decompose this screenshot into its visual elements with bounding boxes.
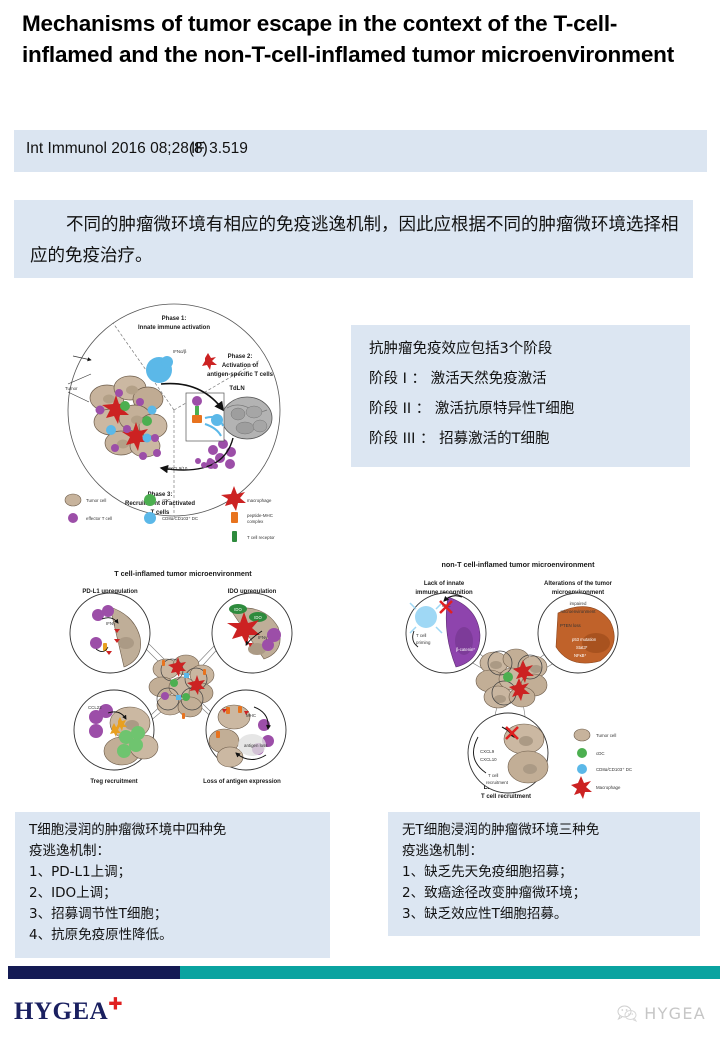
label-ido-1: IDO: [234, 607, 242, 612]
hygea-logo: HYGEA✚: [14, 998, 123, 1026]
page-title: Mechanisms of tumor escape in the contex…: [22, 8, 702, 70]
antigen-presentation-box: [186, 393, 224, 441]
label-ido-2: IDO: [254, 615, 262, 620]
phase2-subtitle-2: antigen-specific T cells: [207, 372, 274, 378]
summary-text: 不同的肿瘤微环境有相应的免疫逃逸机制，因此应根据不同的肿瘤微环境选择相应的免疫治…: [30, 210, 680, 272]
figure-t-cell-inflamed-tme: T cell-inflamed tumor microenvironment P…: [62, 565, 304, 795]
ifn-label: IFNα/β: [173, 349, 187, 354]
legend-label-tumor-cell-2: Tumor cell: [596, 733, 616, 738]
phase-item-1: 阶段 I ： 激活天然免疫激活: [369, 367, 547, 388]
wechat-icon: [617, 1005, 637, 1022]
legend-label-macrophage: macrophage: [247, 498, 272, 503]
bubble-treg: CCL22: [74, 690, 158, 770]
legend-label-cdc: cDC: [162, 498, 171, 503]
footer-accent-bar-teal: [180, 966, 720, 979]
red-cross-icon: ✚: [108, 995, 123, 1015]
conclusion-text-non-inflamed: 无T细胞浸润的肿瘤微环境三种免 疫逃逸机制： 1、缺乏先天免疫细胞招募； 2、致…: [402, 820, 599, 925]
figure-three-phases: Phase 1: Innate immune activation Phase …: [55, 298, 293, 546]
bubble-pdl1: IFNγ: [70, 593, 150, 673]
label-tcell-priming-2: priming: [416, 640, 431, 645]
figure-non-t-cell-inflamed-tme: non-T cell-inflamed tumor microenvironme…: [382, 555, 654, 800]
legend-label-cd8a-dc-2: CD8α/CD103⁺ DC: [596, 767, 632, 772]
label-ifn-gamma-ido: IFNγ: [258, 635, 268, 640]
hygea-logo-text: HYGEA: [14, 998, 108, 1025]
label-impaired-1: impaired: [570, 601, 587, 606]
conclusion-text-inflamed: T细胞浸润的肿瘤微环境中四种免 疫逃逸机制： 1、PD-L1上调； 2、IDO上…: [29, 820, 226, 946]
bubble-alterations-tme: impaired microenvironment PTEN loss p53 …: [538, 593, 618, 673]
label-mhc: MHC: [246, 713, 256, 718]
legend-label-cd8a-dc: CD8α/CD103⁺ DC: [162, 516, 198, 521]
phases-panel: 抗肿瘤免疫效应包括3个阶段 阶段 I ： 激活天然免疫激活 阶段 II ： 激活…: [351, 325, 690, 467]
conclusion-panel-non-inflamed: 无T细胞浸润的肿瘤微环境三种免 疫逃逸机制： 1、缺乏先天免疫细胞招募； 2、致…: [388, 812, 700, 936]
phase2-title: Phase 2:: [228, 354, 253, 360]
phase1-subtitle: Innate immune activation: [138, 325, 210, 331]
legend-label-tcr: T cell receptor: [247, 535, 275, 540]
phase3-subtitle-1: Recruitment of activated: [125, 501, 195, 507]
label-pten-loss: PTEN loss: [560, 623, 582, 628]
quadrant-label-treg: Treg recruitment: [90, 779, 137, 785]
label-beta-catenin: β-catenin*: [456, 647, 475, 652]
legend-label-peptide-mhc-1: peptide-MHC: [247, 513, 273, 518]
tumor-label: Tumor: [65, 386, 78, 391]
cxcl-label: CXCL9/10: [167, 466, 188, 471]
noninflamed-figure-title: non-T cell-inflamed tumor microenvironme…: [442, 560, 596, 569]
quadrant-label-lack-effector-2: T cell recruitment: [481, 794, 531, 800]
legend-label-tumor-cell: Tumor cell: [86, 498, 106, 503]
wechat-watermark: HYGEA: [617, 1004, 706, 1023]
label-tcell-recruitment-1: T cell: [488, 773, 498, 778]
phase2-subtitle-1: Activation of: [222, 363, 259, 369]
label-ccl22: CCL22: [88, 705, 102, 710]
label-tcell-recruitment-2: recruitment: [486, 780, 509, 785]
watermark-label: HYGEA: [644, 1004, 706, 1023]
label-nfkb: NFκB*: [574, 653, 586, 658]
journal-info-bar: Int Immunol 2016 08;28(8) IF 3.519: [14, 130, 707, 172]
quadrant-label-lack-innate-1: Lack of innate: [424, 581, 465, 587]
journal-citation: Int Immunol 2016 08;28(8): [26, 140, 208, 158]
quadrant-label-alterations-1: Alterations of the tumor: [544, 581, 613, 587]
label-p53: p53 mutation: [572, 637, 597, 642]
phase-item-2: 阶段 II ： 激活抗原特异性T细胞: [369, 397, 574, 418]
label-tcell-priming-1: T cell: [416, 633, 426, 638]
footer-accent-bar-navy: [8, 966, 180, 979]
tdln-label: TdLN: [229, 386, 244, 392]
summary-panel: 不同的肿瘤微环境有相应的免疫逃逸机制，因此应根据不同的肿瘤微环境选择相应的免疫治…: [14, 200, 693, 278]
figure-legend-noninflamed: Tumor cell cDC CD8α/CD103⁺ DC Macrophage: [571, 729, 632, 799]
center-tumor-cluster-noninflamed: [476, 649, 547, 708]
phases-heading: 抗肿瘤免疫效应包括3个阶段: [369, 337, 552, 358]
label-impaired-2: microenvironment: [561, 609, 597, 614]
label-ifn-gamma-pdl1: IFNγ: [106, 621, 116, 626]
conclusion-panel-inflamed: T细胞浸润的肿瘤微环境中四种免 疫逃逸机制： 1、PD-L1上调； 2、IDO上…: [15, 812, 330, 958]
quadrant-label-antigen-loss: Loss of antigen expression: [203, 779, 281, 785]
bubble-lack-effector-recruitment: CXCL9 CXCL10 T cell recruitment: [468, 713, 548, 793]
label-stat3: Stat3*: [576, 645, 588, 650]
bubble-ido: IDO IDO IFNγ: [212, 593, 292, 673]
lymph-node-icon: [222, 397, 272, 439]
label-cxcl10: CXCL10: [480, 757, 497, 762]
center-tumor-cluster: [149, 655, 214, 719]
inflamed-figure-title: T cell-inflamed tumor microenvironment: [114, 569, 252, 578]
legend-label-cdc-2: cDC: [596, 751, 605, 756]
legend-label-effector-tcell: effector T cell: [86, 516, 112, 521]
bubble-antigen-loss: MHC antigen loss: [206, 690, 286, 770]
bubble-lack-innate-recognition: cDC T cell priming β-catenin*: [406, 593, 486, 673]
phase-item-3: 阶段 III ： 招募激活的T细胞: [369, 427, 550, 448]
legend-label-peptide-mhc-2: complex: [247, 519, 264, 524]
label-antigen-loss-inner: antigen loss: [244, 743, 268, 748]
legend-label-macrophage-2: Macrophage: [596, 785, 621, 790]
impact-factor-value: IF 3.519: [191, 140, 248, 158]
phase1-title: Phase 1:: [162, 316, 187, 322]
label-cxcl9: CXCL9: [480, 749, 495, 754]
